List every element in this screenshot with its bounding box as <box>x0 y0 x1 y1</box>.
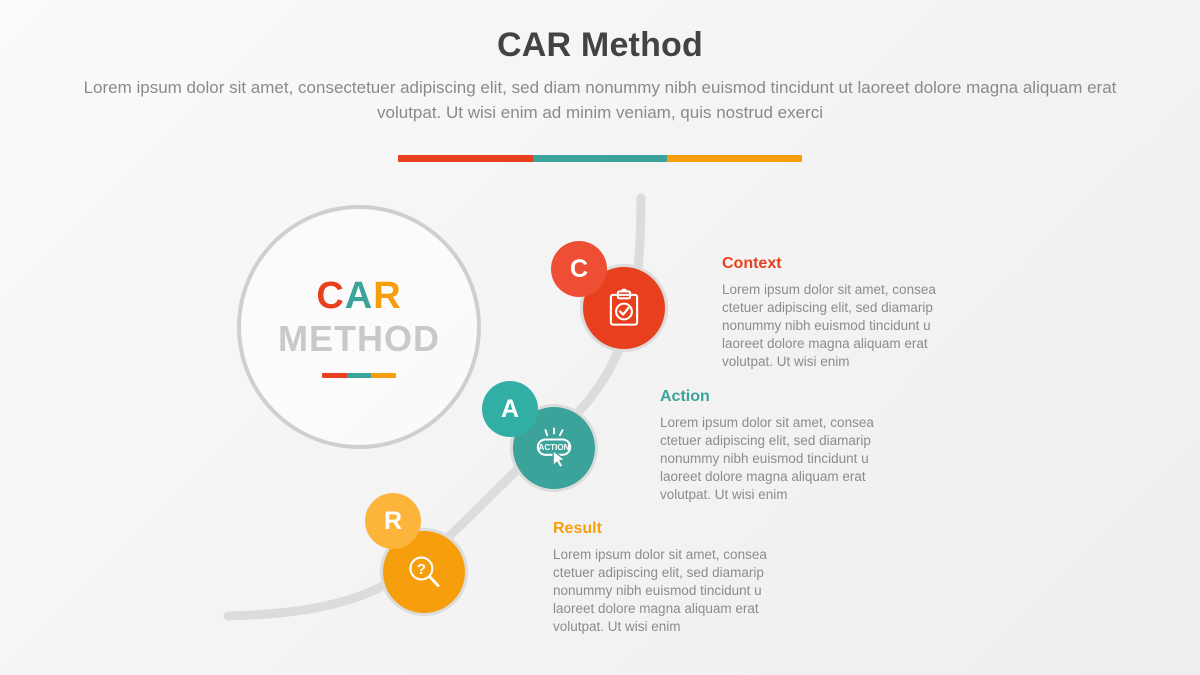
magnifier-question-icon: ? <box>403 551 445 593</box>
center-letter-c: C <box>316 275 344 317</box>
step-badge-context[interactable]: C <box>551 241 607 297</box>
svg-text:?: ? <box>417 562 426 578</box>
accent-segment-red <box>398 155 533 162</box>
clipboard-check-icon <box>603 287 645 329</box>
accent-segment-orange <box>667 155 802 162</box>
step-body-action: Lorem ipsum dolor sit amet, consea ctetu… <box>660 414 912 504</box>
step-title-context: Context <box>722 256 974 272</box>
step-text-result: Result Lorem ipsum dolor sit amet, conse… <box>553 521 805 636</box>
accent-segment-teal <box>533 155 668 162</box>
step-text-action: Action Lorem ipsum dolor sit amet, conse… <box>660 389 912 504</box>
header: CAR Method Lorem ipsum dolor sit amet, c… <box>0 26 1200 125</box>
center-word: METHOD <box>278 321 440 357</box>
step-body-result: Lorem ipsum dolor sit amet, consea ctetu… <box>553 546 805 636</box>
step-badge-label-result: R <box>384 507 402 536</box>
center-letter-a: A <box>345 275 373 317</box>
center-acronym: CAR <box>316 277 401 315</box>
page-title: CAR Method <box>0 26 1200 65</box>
step-badge-action[interactable]: A <box>482 381 538 437</box>
mini-bar-segment-red <box>322 373 347 378</box>
center-letter-r: R <box>373 275 401 317</box>
page-subtitle: Lorem ipsum dolor sit amet, consectetuer… <box>80 75 1120 125</box>
center-mini-bar <box>322 373 396 378</box>
center-circle: CAR METHOD <box>237 205 481 449</box>
mini-bar-segment-orange <box>371 373 396 378</box>
mini-bar-segment-teal <box>347 373 372 378</box>
header-accent-bar <box>398 155 802 162</box>
step-badge-label-action: A <box>501 395 519 424</box>
action-click-icon: ACTION <box>531 427 577 469</box>
step-title-action: Action <box>660 389 912 405</box>
step-text-context: Context Lorem ipsum dolor sit amet, cons… <box>722 256 974 371</box>
step-body-context: Lorem ipsum dolor sit amet, consea ctetu… <box>722 281 974 371</box>
slide-canvas: CAR Method Lorem ipsum dolor sit amet, c… <box>0 0 1200 675</box>
step-badge-label-context: C <box>570 255 588 284</box>
step-badge-result[interactable]: R <box>365 493 421 549</box>
step-title-result: Result <box>553 521 805 537</box>
